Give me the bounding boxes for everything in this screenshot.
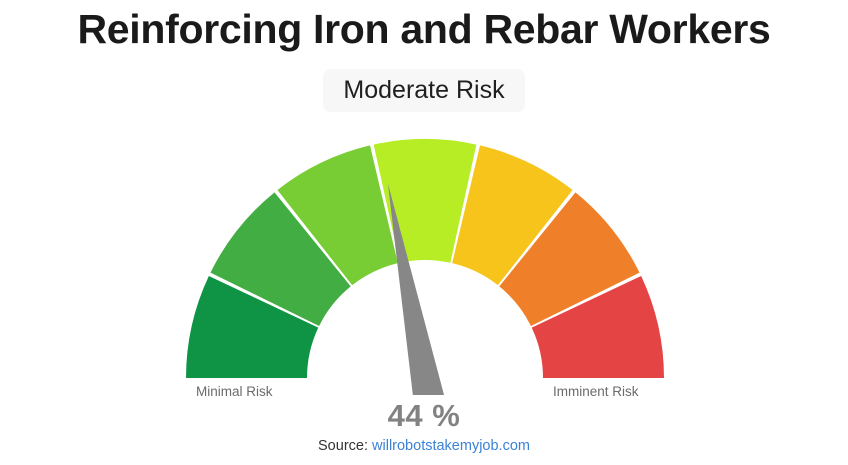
gauge-value-readout: 44 % <box>0 398 848 434</box>
source-prefix: Source: <box>318 438 368 454</box>
page-title: Reinforcing Iron and Rebar Workers <box>0 6 848 53</box>
gauge-min-label: Minimal Risk <box>196 384 273 399</box>
gauge-chart-page: Reinforcing Iron and Rebar Workers Moder… <box>0 0 848 465</box>
gauge-svg <box>0 120 848 395</box>
gauge-max-label: Imminent Risk <box>553 384 639 399</box>
status-badge-container: Moderate Risk <box>0 69 848 112</box>
source-line: Source: willrobotstakemyjob.com <box>0 438 848 454</box>
gauge-visual <box>0 120 848 395</box>
source-link[interactable]: willrobotstakemyjob.com <box>372 438 530 454</box>
status-badge: Moderate Risk <box>323 69 524 112</box>
